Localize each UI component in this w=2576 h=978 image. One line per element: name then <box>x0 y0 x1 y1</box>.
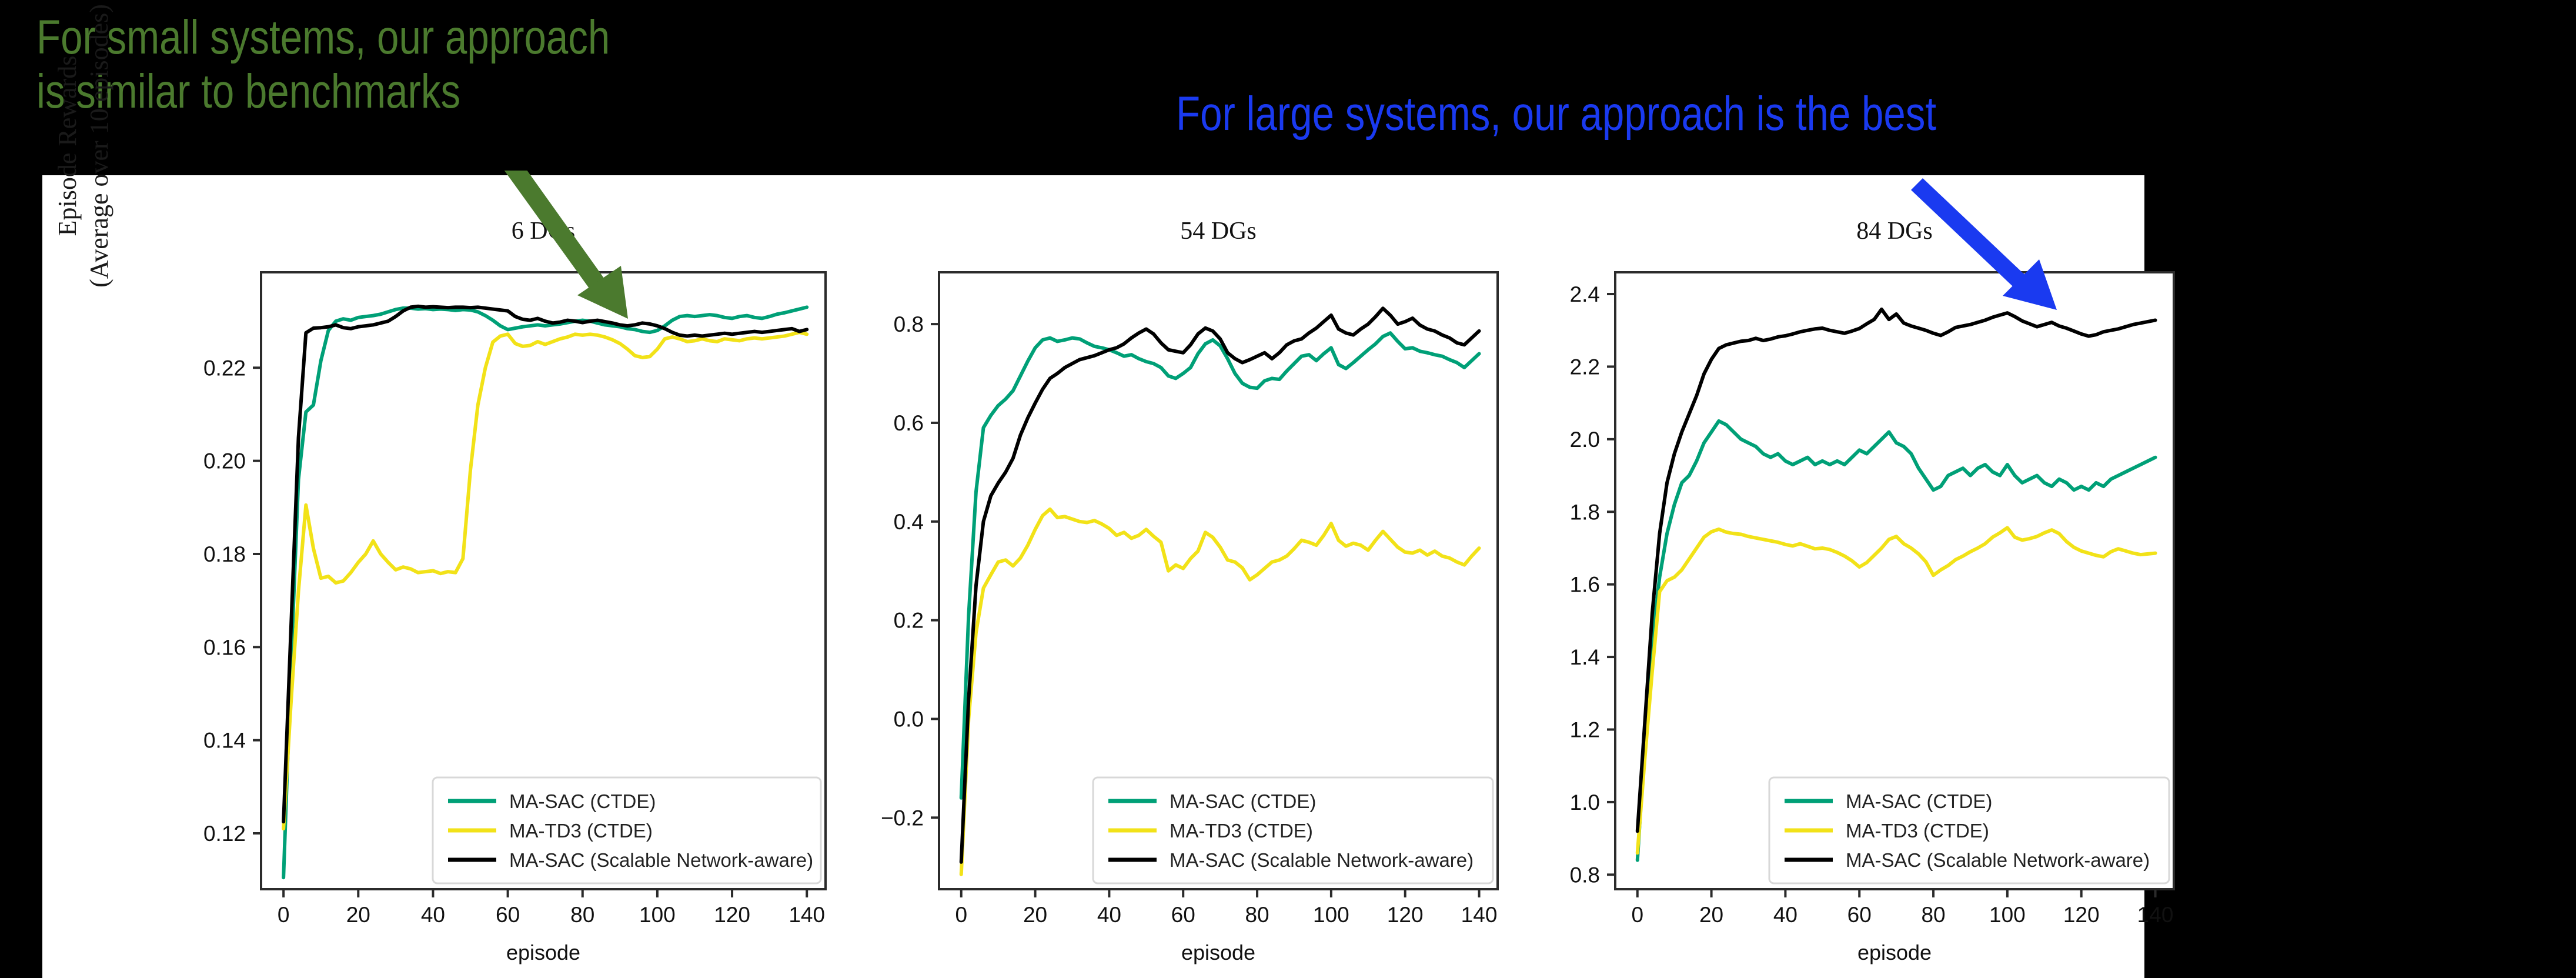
y-tick-label: 2.0 <box>1570 428 1600 452</box>
chart-title: 54 DGs <box>1180 218 1257 245</box>
x-tick-label: 40 <box>1773 903 1797 927</box>
y-tick-label: 2.4 <box>1570 282 1600 306</box>
x-tick-label: 120 <box>2063 903 2100 927</box>
x-tick-label: 60 <box>1847 903 1872 927</box>
x-axis-label: episode <box>506 940 580 964</box>
chart-svg-1: 54 DGs−0.20.00.20.40.60.8020406080100120… <box>813 175 1548 978</box>
x-tick-label: 40 <box>421 903 445 927</box>
legend-label: MA-TD3 (CTDE) <box>1846 820 1989 842</box>
x-tick-label: 100 <box>1313 903 1349 927</box>
y-tick-label: −0.2 <box>881 806 924 830</box>
legend-label: MA-SAC (Scalable Network-aware) <box>509 849 813 871</box>
x-tick-label: 0 <box>1631 903 1643 927</box>
y-tick-label: 1.6 <box>1570 573 1600 597</box>
x-tick-label: 80 <box>570 903 594 927</box>
y-tick-label: 0.8 <box>894 312 924 336</box>
x-tick-label: 100 <box>639 903 676 927</box>
y-tick-label: 0.12 <box>203 822 246 846</box>
y-tick-label: 1.2 <box>1570 717 1600 742</box>
x-tick-label: 0 <box>278 903 290 927</box>
chart-6-dgs: 6 DGs0.120.140.160.180.200.2202040608010… <box>119 175 854 978</box>
legend-label: MA-TD3 (CTDE) <box>1170 820 1313 842</box>
legend-label: MA-SAC (Scalable Network-aware) <box>1846 849 2150 871</box>
y-tick-label: 1.4 <box>1570 645 1600 669</box>
chart-title: 84 DGs <box>1856 218 1933 245</box>
y-tick-label: 0.20 <box>203 449 246 473</box>
figure-panel: Episode Rewards (Average over 10 episode… <box>42 175 2144 978</box>
chart-84-dgs: 84 DGs0.81.01.21.41.61.82.02.22.40204060… <box>1471 175 2206 978</box>
x-axis-label: episode <box>1181 940 1255 964</box>
y-tick-label: 2.2 <box>1570 355 1600 379</box>
x-tick-label: 60 <box>496 903 520 927</box>
x-tick-label: 120 <box>1387 903 1424 927</box>
y-tick-label: 1.0 <box>1570 790 1600 815</box>
y-tick-label: 0.0 <box>894 707 924 731</box>
charts-row: 6 DGs0.120.140.160.180.200.2202040608010… <box>42 175 2144 978</box>
x-tick-label: 80 <box>1245 903 1269 927</box>
y-tick-label: 0.4 <box>894 510 924 534</box>
y-tick-label: 0.18 <box>203 542 246 566</box>
x-tick-label: 100 <box>1989 903 2026 927</box>
legend-label: MA-SAC (CTDE) <box>1170 790 1316 812</box>
chart-svg-2: 84 DGs0.81.01.21.41.61.82.02.22.40204060… <box>1471 175 2206 978</box>
x-tick-label: 80 <box>1921 903 1945 927</box>
x-tick-label: 20 <box>346 903 370 927</box>
x-tick-label: 140 <box>2137 903 2174 927</box>
y-tick-label: 0.22 <box>203 356 246 380</box>
chart-svg-0: 6 DGs0.120.140.160.180.200.2202040608010… <box>119 175 854 978</box>
x-tick-label: 60 <box>1171 903 1195 927</box>
y-tick-label: 0.16 <box>203 635 246 659</box>
y-tick-label: 0.14 <box>203 729 246 753</box>
legend-label: MA-SAC (Scalable Network-aware) <box>1170 849 1474 871</box>
y-tick-label: 0.2 <box>894 609 924 633</box>
y-tick-label: 1.8 <box>1570 500 1600 524</box>
annotation-text-small-systems: For small systems, our approach is simil… <box>36 11 610 119</box>
x-tick-label: 120 <box>714 903 750 927</box>
y-tick-label: 0.8 <box>1570 863 1600 887</box>
annotation-text-large-systems: For large systems, our approach is the b… <box>1176 87 1936 141</box>
legend-label: MA-TD3 (CTDE) <box>509 820 653 842</box>
legend-label: MA-SAC (CTDE) <box>1846 790 1992 812</box>
x-tick-label: 20 <box>1699 903 1723 927</box>
chart-title: 6 DGs <box>512 218 576 245</box>
y-tick-label: 0.6 <box>894 411 924 435</box>
legend-label: MA-SAC (CTDE) <box>509 790 656 812</box>
x-tick-label: 0 <box>955 903 967 927</box>
chart-54-dgs: 54 DGs−0.20.00.20.40.60.8020406080100120… <box>813 175 1548 978</box>
x-axis-label: episode <box>1857 940 1932 964</box>
x-tick-label: 40 <box>1097 903 1121 927</box>
x-tick-label: 20 <box>1023 903 1047 927</box>
